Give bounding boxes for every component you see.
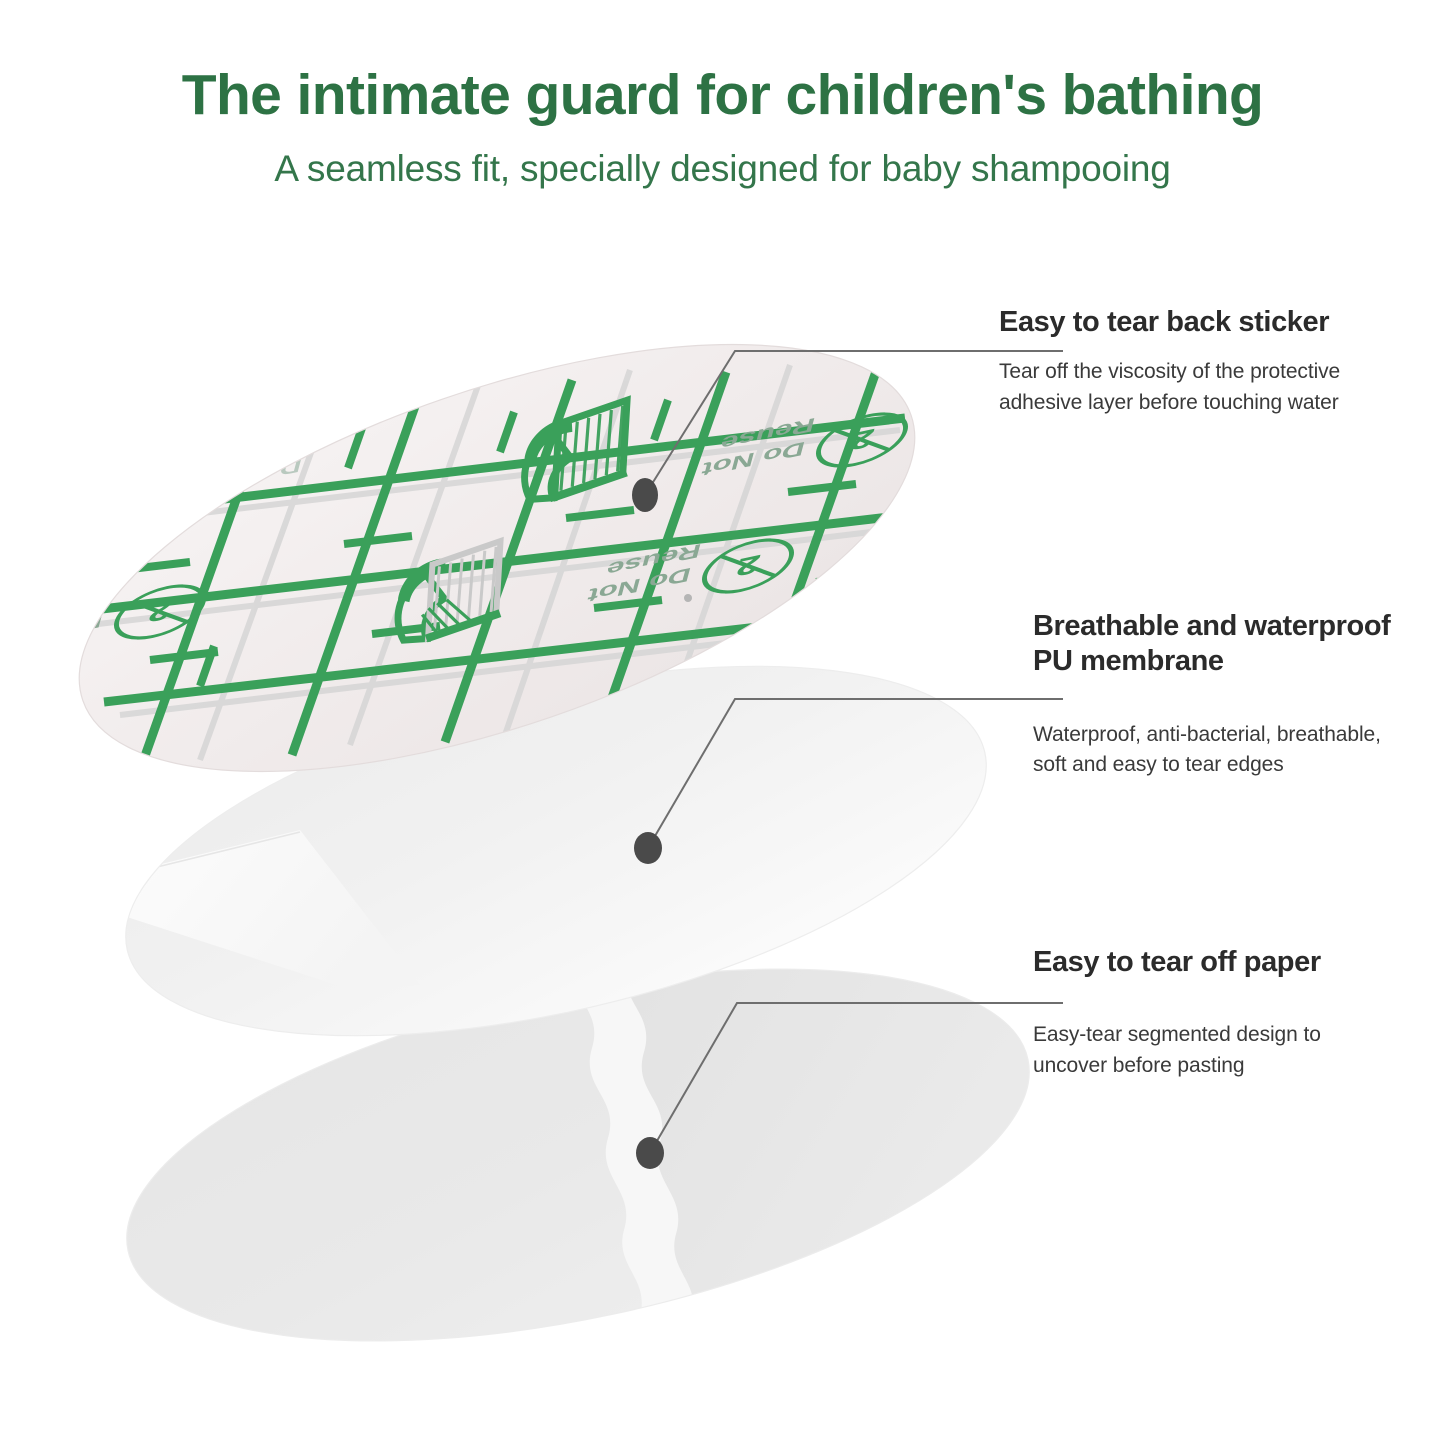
svg-text:Do Not: Do Not: [699, 437, 808, 481]
svg-text:Reuse: Reuse: [604, 539, 704, 581]
svg-text:Do Not: Do Not: [202, 455, 304, 496]
callout-body-line: soft and easy to tear edges: [1033, 753, 1284, 776]
do-not-reuse-marking-2: 2 Do Not Reuse: [580, 518, 801, 624]
leader-lines: [645, 351, 1063, 1153]
leader-dot-1: [632, 478, 658, 512]
callout-body-line: Easy-tear segmented design to: [1033, 1023, 1321, 1046]
page-title: The intimate guard for children's bathin…: [0, 66, 1445, 126]
page-subtitle: A seamless fit, specially designed for b…: [0, 126, 1445, 190]
do-not-reuse-marking-3: 2 Do Not Reuse: [694, 392, 915, 498]
callout-title: Easy to tear back sticker: [999, 305, 1429, 340]
pu-membrane-layer: [90, 596, 1021, 1109]
svg-text:Do Not: Do Not: [0, 609, 105, 653]
callout-title: Easy to tear off paper: [1033, 945, 1433, 980]
peel-corner-icon-1: [508, 397, 649, 505]
svg-text:2: 2: [733, 549, 764, 582]
svg-text:2: 2: [847, 423, 878, 456]
print-dot: [684, 594, 692, 602]
leader-line-3: [650, 1003, 1063, 1153]
svg-text:Reuse: Reuse: [16, 585, 116, 627]
callout-title: Breathable and waterproof PU membrane: [1033, 609, 1433, 680]
callout-breathable-and-waterproof-pu-membrane: Breathable and waterproof PU membrane Wa…: [1033, 609, 1433, 781]
svg-text:2: 2: [145, 595, 176, 628]
header: The intimate guard for children's bathin…: [0, 0, 1445, 190]
callout-body-line: Tear off the viscosity of the protective: [999, 360, 1340, 383]
leader-dot-2: [634, 832, 662, 864]
svg-text:Reuse: Reuse: [718, 413, 818, 455]
grid-tick-marks: [122, 400, 884, 686]
do-not-reuse-marking-4: Do Not Reuse: [202, 432, 314, 496]
callout-body-line: uncover before pasting: [1033, 1054, 1244, 1077]
callout-body: Easy-tear segmented design to uncover be…: [1033, 980, 1433, 1081]
peel-corner-icon-2: [382, 538, 523, 646]
callout-body-line: adhesive layer before touching water: [999, 391, 1339, 414]
leader-dots: [632, 478, 664, 1169]
grid-greenprint: [48, 366, 958, 770]
leader-line-2: [648, 699, 1063, 848]
backing-sticker-layer: 2 Do Not Reuse 2 Do Not Reuse 2 Do Not R…: [0, 257, 966, 860]
callout-body: Tear off the viscosity of the protective…: [999, 340, 1429, 418]
svg-text:Do Not: Do Not: [585, 563, 694, 607]
svg-text:Reuse: Reuse: [220, 432, 314, 471]
callout-title-line: PU membrane: [1033, 645, 1224, 677]
callout-body-line: Waterproof, anti-bacterial, breathable,: [1033, 723, 1381, 746]
leader-dot-3: [636, 1137, 664, 1169]
callout-easy-to-tear-back-sticker: Easy to tear back sticker Tear off the v…: [999, 305, 1429, 418]
callout-title-line: Breathable and waterproof: [1033, 610, 1390, 642]
callout-body: Waterproof, anti-bacterial, breathable, …: [1033, 680, 1433, 781]
grid-underprint: [60, 365, 960, 760]
callout-easy-to-tear-off-paper: Easy to tear off paper Easy-tear segment…: [1033, 945, 1433, 1081]
backing-sticker-print: 2 Do Not Reuse 2 Do Not Reuse 2 Do Not R…: [0, 365, 960, 770]
do-not-reuse-marking-1: 2 Do Not Reuse: [0, 564, 213, 670]
tear-off-paper-layer: [94, 900, 1100, 1417]
